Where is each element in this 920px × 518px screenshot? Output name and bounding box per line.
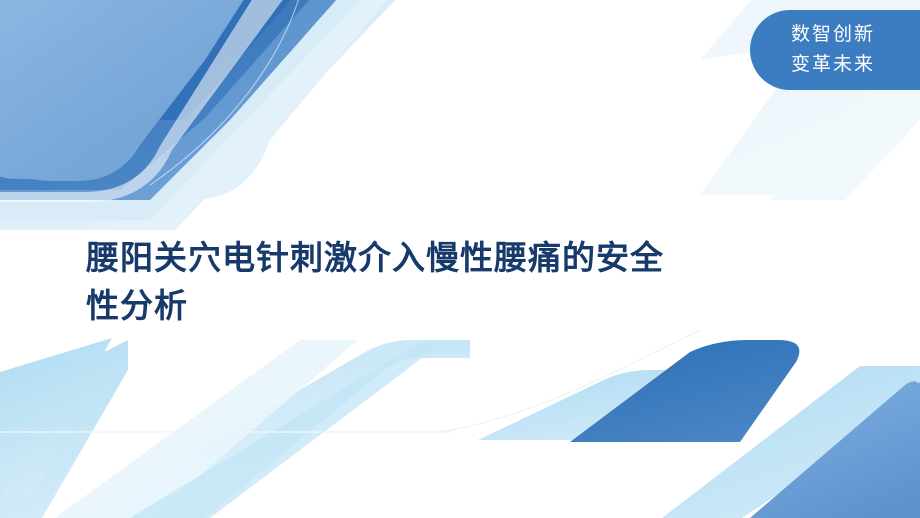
bl-pale-parallelogram bbox=[130, 342, 470, 518]
badge-line-2: 变革未来 bbox=[750, 49, 920, 79]
tl-white-sweep bbox=[0, 0, 290, 202]
title-line-2: 性分析 bbox=[86, 282, 786, 330]
outline-curve-top bbox=[150, 0, 300, 185]
slide-title: 腰阳关穴电针刺激介入慢性腰痛的安全 性分析 bbox=[86, 234, 786, 330]
tl-shelf bbox=[0, 0, 395, 200]
badge-line-1: 数智创新 bbox=[750, 19, 920, 49]
title-line-1: 腰阳关穴电针刺激介入慢性腰痛的安全 bbox=[86, 234, 786, 282]
bc-dark-parallelogram bbox=[570, 340, 799, 442]
corner-badge: 数智创新 变革未来 bbox=[750, 10, 920, 90]
tl-band-mid2 bbox=[0, 0, 345, 200]
tl-band-light bbox=[0, 0, 370, 220]
bc-light-parallelogram bbox=[478, 370, 700, 440]
bc-light-sweep bbox=[430, 365, 760, 440]
tl-band-dark-sliver bbox=[110, 0, 300, 120]
slide-canvas: 数智创新 变革未来 腰阳关穴电针刺激介入慢性腰痛的安全 性分析 bbox=[0, 0, 920, 518]
tl-band-dark bbox=[0, 0, 318, 190]
tl-main-panel bbox=[0, 0, 250, 181]
bl-stripes bbox=[0, 338, 470, 518]
br-blue-triangle bbox=[750, 381, 920, 518]
tl-band-pale bbox=[0, 0, 405, 230]
br-blue-triangle-body bbox=[760, 382, 920, 518]
tl-main-panel-body bbox=[0, 0, 248, 179]
outline-curve-bottom bbox=[440, 330, 700, 432]
br-light-wedge bbox=[662, 366, 920, 518]
